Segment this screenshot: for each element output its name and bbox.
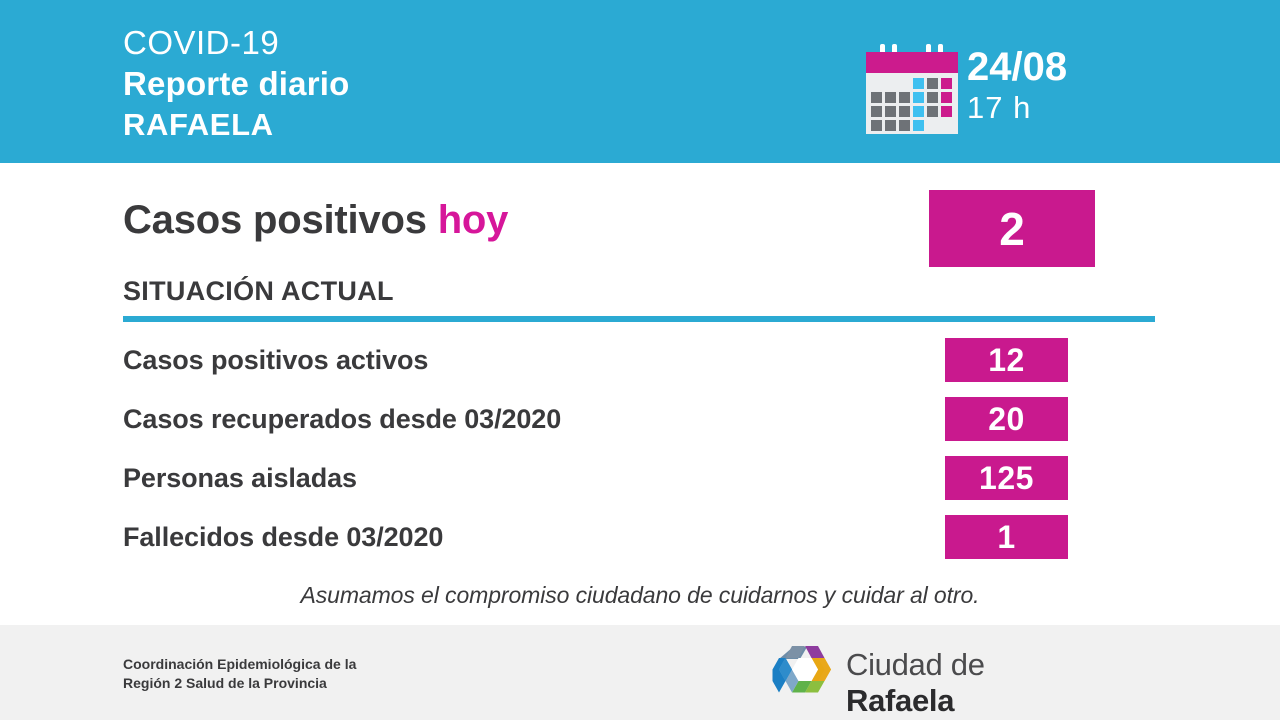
tagline: Asumamos el compromiso ciudadano de cuid…	[0, 582, 1280, 609]
stat-label: Casos positivos activos	[123, 338, 428, 382]
stat-row: Casos recuperados desde 03/2020 20	[0, 397, 1280, 441]
calendar-cell	[927, 92, 938, 103]
calendar-grid	[871, 78, 953, 131]
stat-label: Personas aisladas	[123, 456, 357, 500]
stat-label: Casos recuperados desde 03/2020	[123, 397, 561, 441]
calendar-cell	[941, 106, 952, 117]
calendar-cell	[927, 78, 938, 89]
today-cases-value-box: 2	[929, 190, 1095, 267]
calendar-cell	[941, 92, 952, 103]
stat-value: 12	[988, 344, 1025, 376]
header-covid-label: COVID-19	[123, 22, 350, 63]
stat-value-box: 1	[945, 515, 1068, 559]
calendar-cell	[927, 106, 938, 117]
footer-organization: Coordinación Epidemiológica de la Región…	[123, 655, 356, 693]
stat-row: Personas aisladas 125	[0, 456, 1280, 500]
header-report-title: Reporte diario	[123, 63, 350, 104]
section-title: SITUACIÓN ACTUAL	[123, 276, 394, 307]
city-logo: Ciudad de Rafaela GOBIERNO MUNICIPAL	[772, 644, 1092, 704]
today-cases-value: 2	[999, 206, 1025, 252]
calendar-cell	[885, 92, 896, 103]
stat-value: 125	[979, 462, 1034, 494]
header-band: COVID-19 Reporte diario RAFAELA	[0, 0, 1280, 163]
section-divider	[123, 316, 1155, 322]
calendar-header-bar	[866, 52, 958, 73]
calendar-cell	[913, 120, 924, 131]
calendar-cell	[913, 106, 924, 117]
header-title-group: COVID-19 Reporte diario RAFAELA	[123, 22, 350, 145]
stat-row: Casos positivos activos 12	[0, 338, 1280, 382]
today-cases-label-text: Casos positivos	[123, 198, 427, 242]
calendar-cell	[885, 78, 896, 89]
city-logo-prefix: Ciudad de	[846, 647, 985, 682]
calendar-cell	[871, 106, 882, 117]
calendar-cell	[885, 120, 896, 131]
rafaela-hexagon-logo-icon	[772, 644, 836, 702]
report-date: 24/08	[967, 44, 1067, 90]
city-logo-text: Ciudad de Rafaela GOBIERNO MUNICIPAL	[846, 647, 1092, 720]
today-cases-label-highlight	[427, 198, 438, 242]
calendar-cell	[913, 78, 924, 89]
covid-daily-report-poster: COVID-19 Reporte diario RAFAELA	[0, 0, 1280, 720]
stat-value-box: 125	[945, 456, 1068, 500]
calendar-cell	[899, 106, 910, 117]
stat-value-box: 20	[945, 397, 1068, 441]
calendar-icon	[866, 44, 958, 134]
today-cases-label: Casos positivos hoy	[123, 198, 508, 243]
city-logo-title: Ciudad de Rafaela	[846, 647, 1092, 719]
header-city-name: RAFAELA	[123, 104, 350, 145]
city-logo-name: Rafaela	[846, 683, 954, 718]
calendar-cell	[899, 92, 910, 103]
stat-value: 1	[997, 521, 1015, 553]
stat-value: 20	[988, 403, 1025, 435]
stat-label: Fallecidos desde 03/2020	[123, 515, 443, 559]
calendar-cell	[871, 120, 882, 131]
footer-org-line-1: Coordinación Epidemiológica de la	[123, 655, 356, 674]
calendar-cell	[941, 120, 952, 131]
stat-row: Fallecidos desde 03/2020 1	[0, 515, 1280, 559]
report-date-group: 24/08 17 h	[967, 44, 1067, 126]
report-time: 17 h	[967, 90, 1067, 126]
footer-org-line-2: Región 2 Salud de la Provincia	[123, 674, 356, 693]
calendar-cell	[871, 78, 882, 89]
calendar-cell	[941, 78, 952, 89]
calendar-cell	[913, 92, 924, 103]
calendar-cell	[885, 106, 896, 117]
calendar-cell	[927, 120, 938, 131]
today-cases-highlight-word: hoy	[438, 198, 509, 242]
calendar-cell	[899, 120, 910, 131]
stat-value-box: 12	[945, 338, 1068, 382]
calendar-cell	[871, 92, 882, 103]
calendar-cell	[899, 78, 910, 89]
